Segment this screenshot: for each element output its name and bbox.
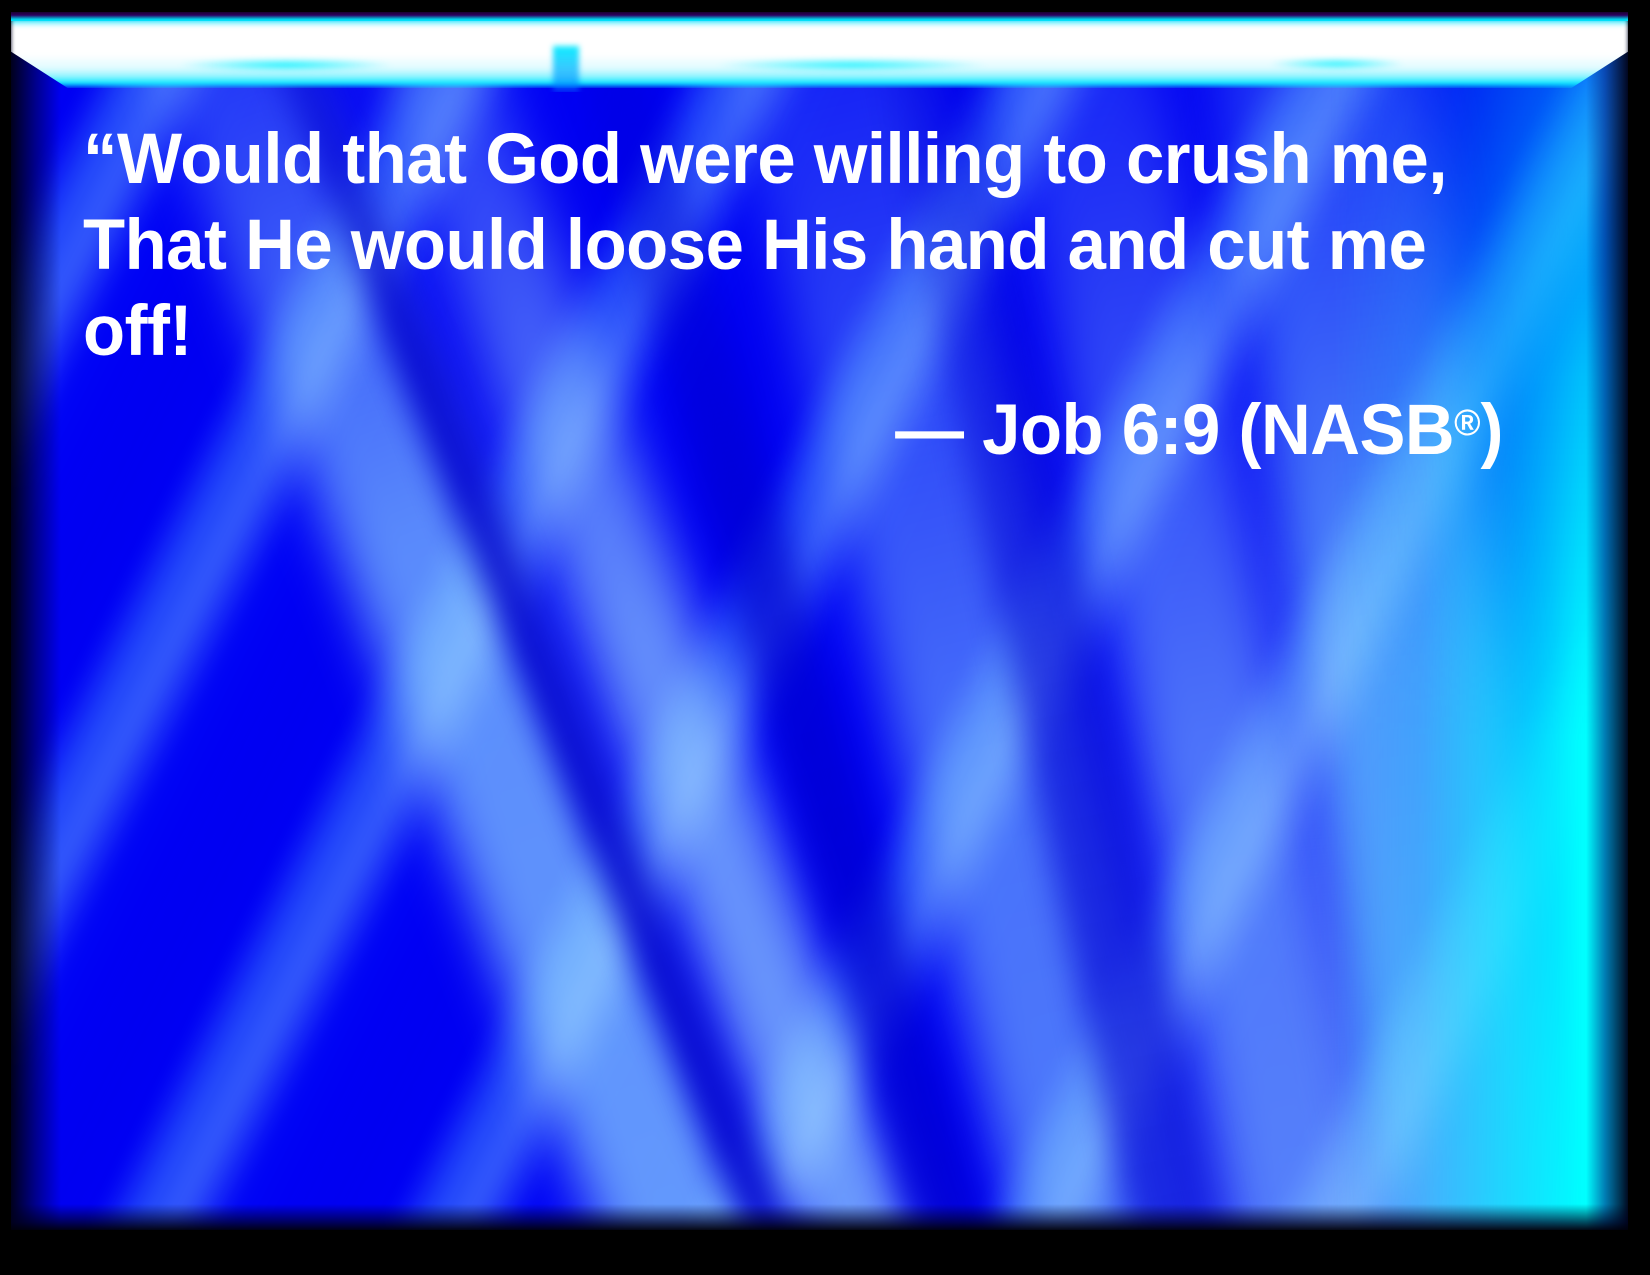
attribution-closing-paren: ) (1481, 391, 1503, 470)
verse-attribution: — Job 6:9 (NASB®) (126, 380, 1503, 474)
slide-canvas: “Would that God were willing to crush me… (11, 12, 1628, 1230)
registered-trademark-icon: ® (1454, 402, 1480, 443)
text-layer: “Would that God were willing to crush me… (11, 12, 1628, 1230)
verse-text: “Would that God were willing to crush me… (83, 117, 1460, 375)
attribution-reference: — Job 6:9 (NASB (895, 391, 1454, 470)
scripture-slide: “Would that God were willing to crush me… (0, 0, 1650, 1275)
